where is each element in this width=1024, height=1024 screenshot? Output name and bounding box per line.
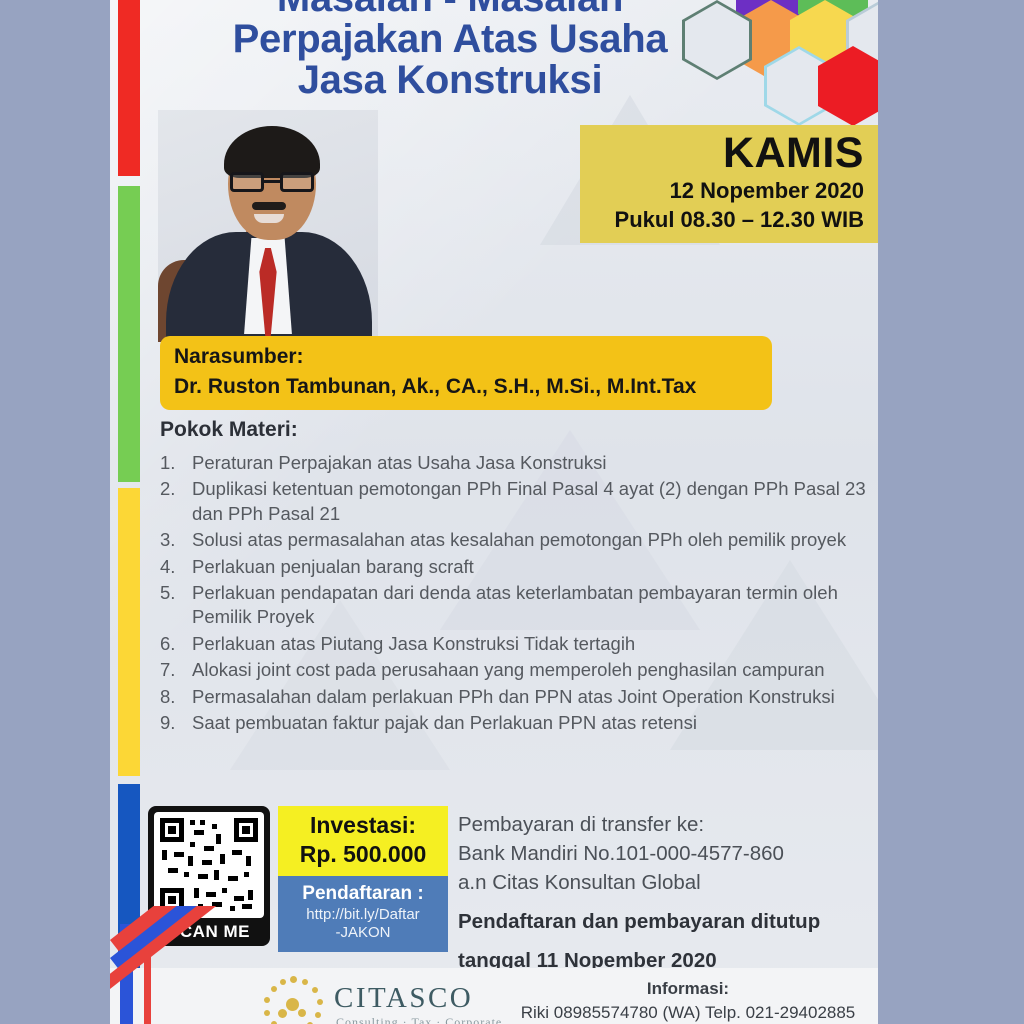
- materi-item-text: Perlakuan pendapatan dari denda atas ket…: [192, 581, 876, 630]
- event-date: 12 Nopember 2020: [580, 176, 864, 206]
- title-line-3: Jasa Konstruksi: [150, 60, 750, 101]
- poster-title: Masalah - Masalah Perpajakan Atas Usaha …: [150, 0, 750, 100]
- speaker-photo: [158, 110, 378, 342]
- payment-block: Pembayaran di transfer ke: Bank Mandiri …: [458, 810, 878, 974]
- contact-info: Informasi: Riki 08985574780 (WA) Telp. 0…: [508, 977, 868, 1024]
- event-day: KAMIS: [580, 131, 864, 176]
- payment-bank-account: Bank Mandiri No.101-000-4577-860: [458, 839, 878, 868]
- materi-item: 3. Solusi atas permasalahan atas kesalah…: [160, 528, 876, 552]
- materi-item-text: Permasalahan dalam perlakuan PPh dan PPN…: [192, 685, 876, 709]
- glasses-icon: [230, 172, 314, 192]
- materi-item-number: 9.: [160, 711, 192, 735]
- materi-item-text: Peraturan Perpajakan atas Usaha Jasa Kon…: [192, 451, 876, 475]
- logo-subtitle: Consulting · Tax · Corporate: [336, 1015, 502, 1024]
- payment-account-name: a.n Citas Konsultan Global: [458, 868, 878, 897]
- investment-amount: Rp. 500.000: [278, 840, 448, 869]
- title-line-1: Masalah - Masalah: [150, 0, 750, 19]
- info-contact: Riki 08985574780 (WA) Telp. 021-29402885: [508, 1001, 868, 1024]
- speaker-name: Dr. Ruston Tambunan, Ak., CA., S.H., M.S…: [174, 372, 772, 402]
- title-line-2: Perpajakan Atas Usaha: [150, 19, 750, 60]
- payment-line-1: Pembayaran di transfer ke:: [458, 810, 878, 839]
- materi-item-text: Duplikasi ketentuan pemotongan PPh Final…: [192, 477, 876, 526]
- materi-item-number: 3.: [160, 528, 192, 552]
- investment-amount-box: Investasi: Rp. 500.000: [278, 806, 448, 876]
- registration-label: Pendaftaran :: [282, 882, 444, 907]
- rail-red: [118, 0, 140, 176]
- materi-item-text: Solusi atas permasalahan atas kesalahan …: [192, 528, 876, 552]
- photo-mustache: [252, 202, 286, 210]
- materi-item: 4. Perlakuan penjualan barang scraft: [160, 555, 876, 579]
- materi-item-number: 5.: [160, 581, 192, 630]
- materi-item-number: 8.: [160, 685, 192, 709]
- materi-item: 8. Permasalahan dalam perlakuan PPh dan …: [160, 685, 876, 709]
- materi-item-text: Perlakuan penjualan barang scraft: [192, 555, 876, 579]
- rail-yellow: [118, 488, 140, 776]
- qr-code-image: [154, 812, 264, 918]
- photo-mouth: [254, 214, 284, 223]
- materi-item: 2. Duplikasi ketentuan pemotongan PPh Fi…: [160, 477, 876, 526]
- materi-item-text: Alokasi joint cost pada perusahaan yang …: [192, 658, 876, 682]
- materi-item-number: 2.: [160, 477, 192, 526]
- materi-item-text: Saat pembuatan faktur pajak dan Perlakua…: [192, 711, 876, 735]
- speaker-bar: Narasumber: Dr. Ruston Tambunan, Ak., CA…: [160, 336, 772, 410]
- materi-item: 6. Perlakuan atas Piutang Jasa Konstruks…: [160, 632, 876, 656]
- materi-item: 5. Perlakuan pendapatan dari denda atas …: [160, 581, 876, 630]
- info-heading: Informasi:: [508, 977, 868, 1002]
- materi-item-number: 6.: [160, 632, 192, 656]
- materi-item-number: 4.: [160, 555, 192, 579]
- event-time: Pukul 08.30 – 12.30 WIB: [580, 205, 864, 235]
- poster-canvas: Masalah - Masalah Perpajakan Atas Usaha …: [0, 0, 1024, 1024]
- payment-deadline-line-1: Pendaftaran dan pembayaran ditutup: [458, 908, 878, 935]
- materi-section: Pokok Materi: 1. Peraturan Perpajakan at…: [160, 418, 876, 737]
- ribbon-decoration: [110, 906, 354, 1024]
- materi-item-text: Perlakuan atas Piutang Jasa Konstruksi T…: [192, 632, 876, 656]
- materi-item-number: 7.: [160, 658, 192, 682]
- materi-item-number: 1.: [160, 451, 192, 475]
- rail-green: [118, 186, 140, 482]
- poster-sheet: Masalah - Masalah Perpajakan Atas Usaha …: [110, 0, 878, 1024]
- speaker-label: Narasumber:: [174, 342, 772, 372]
- materi-heading: Pokok Materi:: [160, 418, 876, 442]
- investment-label: Investasi:: [278, 811, 448, 840]
- materi-item: 1. Peraturan Perpajakan atas Usaha Jasa …: [160, 451, 876, 475]
- logo-name: CITASCO: [334, 982, 473, 1015]
- materi-item: 7. Alokasi joint cost pada perusahaan ya…: [160, 658, 876, 682]
- materi-item: 9. Saat pembuatan faktur pajak dan Perla…: [160, 711, 876, 735]
- date-box: KAMIS 12 Nopember 2020 Pukul 08.30 – 12.…: [580, 125, 878, 243]
